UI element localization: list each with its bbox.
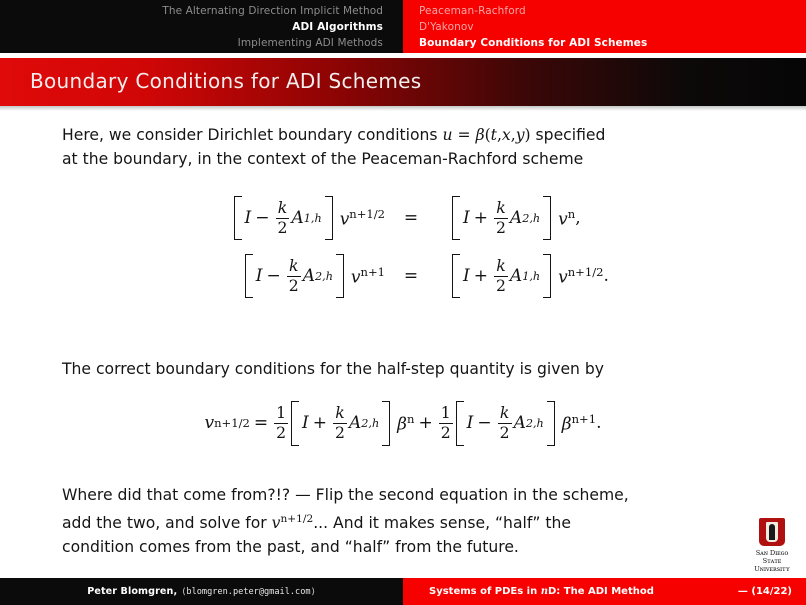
- bracket-group: I + k 2 A1,h: [452, 254, 551, 299]
- eq3-beta1: βn: [391, 412, 414, 434]
- eq2-rhs-num: k: [494, 258, 507, 276]
- eq3-plus: +: [414, 413, 436, 433]
- paragraph-dirichlet-intro: Here, we consider Dirichlet boundary con…: [62, 123, 752, 171]
- equation-1-relation: =: [395, 208, 427, 228]
- eq1-rhs-op: +: [470, 208, 492, 228]
- eq1-rhs-A: A: [510, 208, 522, 228]
- footer-page-number: — (14/22): [738, 586, 792, 597]
- p1-equals: =: [458, 126, 471, 144]
- eq2-lhs-v: vn+1: [345, 265, 385, 287]
- eq3-br2-den: 2: [498, 423, 512, 442]
- paragraph-explanation: Where did that come from?!? — Flip the s…: [62, 483, 752, 559]
- fraction-k-over-2: k 2: [333, 405, 347, 442]
- eq1-lhs-vsup: n+1/2: [349, 207, 385, 221]
- eq2-rhs-op: +: [470, 266, 492, 286]
- p3-line-2-b: ... And it makes sense, “half” the: [313, 514, 571, 532]
- fraction-k-over-2: k 2: [494, 200, 508, 237]
- eq1-lhs-Asub: 1,h: [304, 212, 322, 225]
- eq3-trail: .: [596, 413, 601, 433]
- nav-item-implementing-adi-methods[interactable]: Implementing ADI Methods: [0, 35, 383, 51]
- eq3-v-sup: n+1/2: [214, 416, 250, 430]
- eq2-lhs-I: I: [256, 266, 263, 286]
- eq1-rhs-vsup: n: [568, 207, 575, 221]
- p1-beta: β: [476, 126, 485, 144]
- eq1-rhs-num: k: [494, 200, 507, 218]
- bracket-group: I − k 2 A1,h: [234, 196, 333, 241]
- equation-block-half-step: vn+1/2 = 1 2 I + k 2 A2,h βn + 1 2 I: [0, 401, 806, 446]
- eq1-rhs-I: I: [463, 208, 470, 228]
- eq3-half1-den: 2: [274, 423, 288, 442]
- eq3-br1-num: k: [333, 405, 346, 423]
- eq1-lhs-I: I: [245, 208, 252, 228]
- bracket-group: I + k 2 A2,h: [291, 401, 390, 446]
- footer-right-section: Systems of PDEs in nD: The ADI Method — …: [403, 578, 806, 605]
- eq3-br2-A: A: [514, 413, 526, 433]
- eq3-br1-A: A: [349, 413, 361, 433]
- nav-header: The Alternating Direction Implicit Metho…: [0, 0, 806, 53]
- equation-1-rhs: I + k 2 A2,h vn,: [427, 196, 806, 241]
- sdsu-logo: Sᴀɴ Dɪᴇɢᴏ Sᴛᴀᴛᴇ Uɴɪᴠᴇʀsɪᴛʏ: [748, 518, 796, 566]
- p1-var-y: y: [516, 126, 525, 144]
- slide-title-bar: Boundary Conditions for ADI Schemes: [0, 58, 806, 106]
- nav-item-alternating-direction-implicit-method[interactable]: The Alternating Direction Implicit Metho…: [0, 3, 383, 19]
- p3-line-1: Where did that come from?!? — Flip the s…: [62, 486, 629, 504]
- sdsu-logo-line-2: Uɴɪᴠᴇʀsɪᴛʏ: [748, 565, 796, 573]
- equation-1-lhs: I − k 2 A1,h vn+1/2: [0, 196, 395, 241]
- eq2-lhs-Asub: 2,h: [315, 270, 333, 283]
- fraction-one-half-2: 1 2: [439, 405, 453, 442]
- sdsu-aztec-figure-icon: [769, 524, 775, 540]
- eq1-rhs-den: 2: [494, 218, 508, 237]
- equation-row-1: I − k 2 A1,h vn+1/2 = I +: [0, 189, 806, 247]
- eq3-half1-num: 1: [274, 405, 288, 423]
- eq2-rhs-I: I: [463, 266, 470, 286]
- footer-left-section: Peter Blomgren,⟨blomgren.peter@gmail.com…: [0, 578, 403, 605]
- eq1-lhs-num: k: [276, 200, 289, 218]
- paragraph-correct-bc: The correct boundary conditions for the …: [62, 357, 752, 381]
- eq3-beta2-sup: n+1: [572, 412, 596, 426]
- p1-text-a: Here, we consider Dirichlet boundary con…: [62, 126, 443, 144]
- eq2-lhs-vsup: n+1: [361, 265, 385, 279]
- equation-2-lhs: I − k 2 A2,h vn+1: [0, 254, 395, 299]
- bracket-group: I + k 2 A2,h: [452, 196, 551, 241]
- equation-row-2: I − k 2 A2,h vn+1 = I +: [0, 247, 806, 305]
- sdsu-logo-line-1: Sᴀɴ Dɪᴇɢᴏ Sᴛᴀᴛᴇ: [748, 549, 796, 565]
- eq3-half2-num: 1: [439, 405, 453, 423]
- fraction-k-over-2: k 2: [287, 258, 301, 295]
- eq1-rhs-Asub: 2,h: [522, 212, 540, 225]
- fraction-k-over-2: k 2: [276, 200, 290, 237]
- bracket-group: I − k 2 A2,h: [456, 401, 555, 446]
- eq2-rhs-den: 2: [494, 276, 508, 295]
- eq3-br1-den: 2: [333, 423, 347, 442]
- eq1-trail: ,: [575, 208, 580, 228]
- equation-2-relation: =: [395, 266, 427, 286]
- sdsu-shield-icon: [759, 518, 785, 546]
- eq1-lhs-op: −: [251, 208, 273, 228]
- nav-left-section: The Alternating Direction Implicit Metho…: [0, 0, 403, 53]
- fraction-one-half-1: 1 2: [274, 405, 288, 442]
- eq2-lhs-num: k: [287, 258, 300, 276]
- eq3-br1-Asub: 2,h: [361, 417, 379, 430]
- eq3-br2-num: k: [498, 405, 511, 423]
- eq1-lhs-A: A: [291, 208, 303, 228]
- eq1-lhs-den: 2: [276, 218, 290, 237]
- eq2-lhs-den: 2: [287, 276, 301, 295]
- eq3-beta2: βn+1: [556, 412, 596, 434]
- eq3-br2-I: I: [467, 413, 474, 433]
- eq1-rhs-v: vn: [552, 207, 575, 229]
- eq3-v: v: [205, 413, 215, 433]
- footer-subject: Systems of PDEs in nD: The ADI Method: [429, 586, 654, 597]
- nav-item-dyakonov[interactable]: D'Yakonov: [419, 19, 806, 35]
- fraction-k-over-2: k 2: [494, 258, 508, 295]
- eq3-half2-den: 2: [439, 423, 453, 442]
- p3-var-v-sup: n+1/2: [280, 513, 313, 525]
- eq3-beta1-sup: n: [407, 412, 414, 426]
- eq3-relation: =: [250, 413, 272, 433]
- eq2-rhs-Asub: 1,h: [522, 270, 540, 283]
- eq2-rhs-A: A: [510, 266, 522, 286]
- eq2-rhs-v: vn+1/2: [552, 265, 603, 287]
- footer-email[interactable]: ⟨blomgren.peter@gmail.com⟩: [177, 587, 316, 597]
- slide-content: Here, we consider Dirichlet boundary con…: [0, 111, 806, 578]
- footer-subject-n: n: [541, 586, 548, 597]
- eq2-rhs-vsup: n+1/2: [568, 265, 604, 279]
- p1-line-2: at the boundary, in the context of the P…: [62, 150, 583, 168]
- eq2-lhs-A: A: [303, 266, 315, 286]
- page-title: Boundary Conditions for ADI Schemes: [30, 69, 421, 93]
- p3-line-2-a: add the two, and solve for: [62, 514, 272, 532]
- p1-var-u: u: [443, 126, 453, 144]
- nav-right-section: Peaceman-Rachford D'Yakonov Boundary Con…: [403, 0, 806, 53]
- fraction-k-over-2: k 2: [498, 405, 512, 442]
- eq3-br2-Asub: 2,h: [526, 417, 544, 430]
- nav-item-peaceman-rachford[interactable]: Peaceman-Rachford: [419, 3, 806, 19]
- footer-author: Peter Blomgren,: [87, 586, 177, 597]
- eq1-lhs-v: vn+1/2: [334, 207, 385, 229]
- eq2-lhs-op: −: [263, 266, 285, 286]
- nav-item-boundary-conditions-for-adi-schemes[interactable]: Boundary Conditions for ADI Schemes: [419, 35, 806, 51]
- p1-text-b: specified: [531, 126, 606, 144]
- nav-item-adi-algorithms[interactable]: ADI Algorithms: [0, 19, 383, 35]
- footer-bar: Peter Blomgren,⟨blomgren.peter@gmail.com…: [0, 578, 806, 605]
- p1-var-x: x: [502, 126, 511, 144]
- eq3-br2-op: −: [473, 413, 495, 433]
- equation-block-scheme: I − k 2 A1,h vn+1/2 = I +: [0, 189, 806, 305]
- eq3-br1-op: +: [309, 413, 331, 433]
- eq3-br1-I: I: [302, 413, 309, 433]
- equation-2-rhs: I + k 2 A1,h vn+1/2.: [427, 254, 806, 299]
- eq2-trail: .: [603, 266, 608, 286]
- p3-line-3: condition comes from the past, and “half…: [62, 538, 519, 556]
- bracket-group: I − k 2 A2,h: [245, 254, 344, 299]
